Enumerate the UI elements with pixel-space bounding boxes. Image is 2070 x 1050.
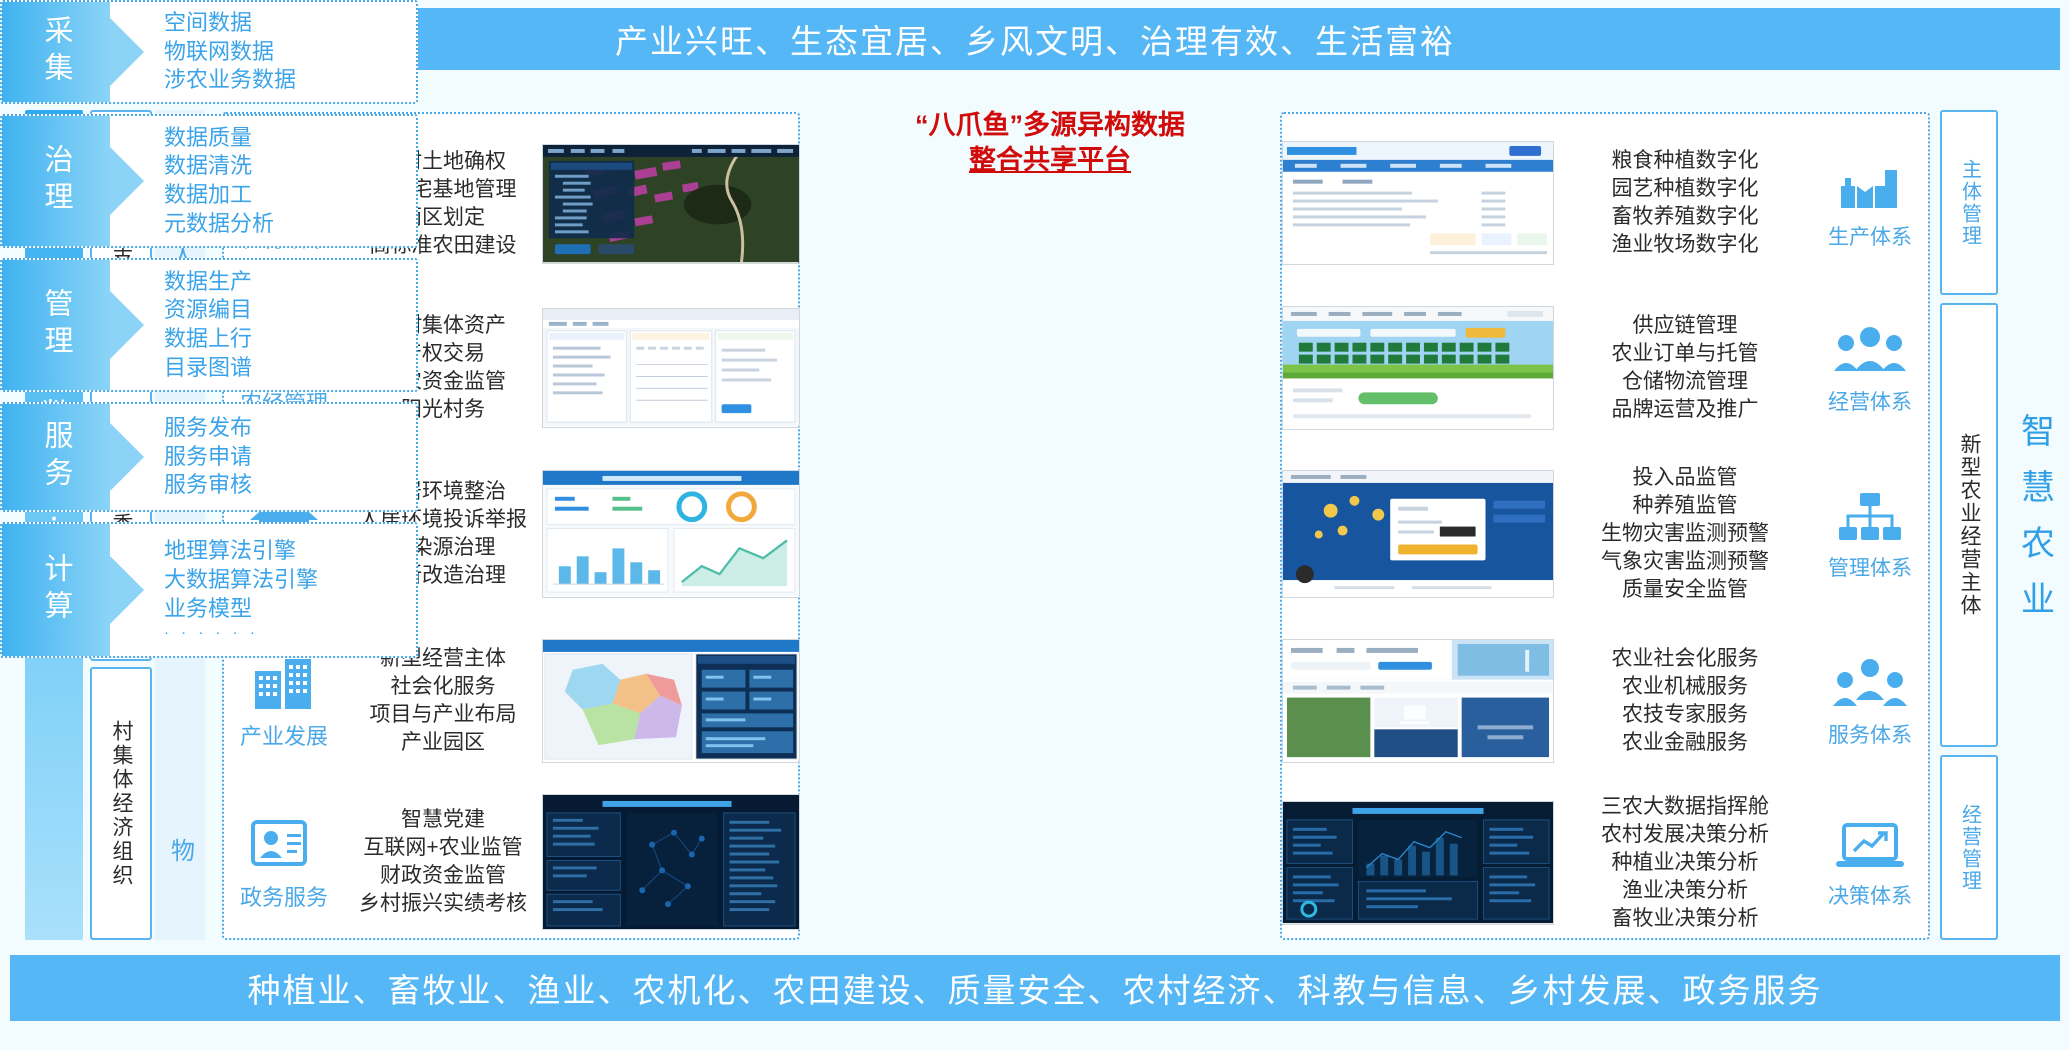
stage-arrow-compute: 计算 — [2, 524, 110, 656]
stage-label: 服务 — [35, 420, 77, 494]
id-card-icon — [247, 812, 321, 874]
laptop-chart-icon-wrap: 决策体系 — [1808, 817, 1932, 910]
right-row-desc: 农业社会化服务农业机械服务农技专家服务农业金融服务 — [1562, 645, 1808, 757]
factory-icon-wrap: 生产体系 — [1808, 156, 1932, 251]
stage-item[interactable]: 元数据分析 — [164, 210, 416, 239]
left-row-title: 政务服务 — [240, 880, 328, 912]
left-row-screenshot — [542, 470, 802, 597]
left-row-screenshot — [542, 794, 802, 931]
service-people-icon-wrap: 服务体系 — [1808, 654, 1932, 749]
right-label-operation-management[interactable]: 经营管理 — [1940, 755, 1998, 940]
stage-item[interactable]: 数据质量 — [164, 124, 416, 153]
org-box-collective-economy[interactable]: 村集体经济组织 — [90, 667, 152, 940]
screenshot-service-portal — [1282, 639, 1554, 762]
stage-item[interactable]: 数据加工 — [164, 181, 416, 210]
screenshot-asset-dashboard — [542, 308, 800, 427]
center-title-line2: 整合共享平台 — [840, 143, 1260, 178]
right-row-title: 经营体系 — [1828, 386, 1912, 416]
stage-label: 管理 — [35, 288, 77, 362]
left-row-government-service[interactable]: 政务服务 智慧党建互联网+农业监管财政资金监管乡村振兴实绩考核 — [224, 786, 802, 938]
resource-label-assets: 物 — [163, 838, 198, 862]
stage-items-service: 服务发布 服务申请 服务审核 — [110, 404, 416, 510]
stage-management[interactable]: 管理 数据生产 资源编目 数据上行 目录图谱 — [0, 258, 418, 392]
stage-arrow-collect: 采集 — [2, 2, 110, 102]
org-label: 村集体经济组织 — [110, 720, 132, 888]
right-row-desc: 供应链管理农业订单与托管仓储物流管理品牌运营及推广 — [1562, 312, 1808, 424]
stage-collect[interactable]: 采集 空间数据 物联网数据 涉农业务数据 — [0, 0, 418, 104]
stage-governance[interactable]: 治理 数据质量 数据清洗 数据加工 元数据分析 — [0, 114, 418, 248]
stage-item[interactable]: 涉农业务数据 — [164, 66, 416, 95]
screenshot-land-map — [542, 144, 800, 263]
stage-item[interactable]: 物联网数据 — [164, 38, 416, 67]
service-people-icon — [1831, 654, 1909, 714]
right-row-desc: 粮食种植数字化园艺种植数字化畜牧养殖数字化渔业牧场数字化 — [1562, 147, 1808, 259]
people-group-icon — [1831, 321, 1909, 381]
stage-item-ellipsis: · · · · · · — [164, 623, 416, 643]
screenshot-decision-bigscreen — [1282, 801, 1554, 924]
center-platform-title: “八爪鱼”多源异构数据 整合共享平台 — [840, 108, 1260, 178]
id-card-icon-wrap: 政务服务 — [224, 812, 344, 912]
buildings-icon-wrap: 产业发展 — [224, 651, 344, 751]
stage-items-management: 数据生产 资源编目 数据上行 目录图谱 — [110, 260, 416, 390]
laptop-chart-icon — [1832, 817, 1908, 875]
footer-banner: 种植业、畜牧业、渔业、农机化、农田建设、质量安全、农村经济、科教与信息、乡村发展… — [10, 955, 2060, 1021]
left-row-screenshot — [542, 639, 802, 762]
stage-item[interactable]: 数据清洗 — [164, 152, 416, 181]
screenshot-industry-map — [542, 639, 800, 762]
right-row-screenshot — [1282, 470, 1562, 597]
stage-label: 采集 — [35, 15, 77, 89]
right-row-operation-system[interactable]: 供应链管理农业订单与托管仓储物流管理品牌运营及推广 经营体系 — [1282, 290, 1932, 446]
right-edge-smart-agriculture: 智慧农业 — [2008, 110, 2062, 940]
left-row-desc: 新型经营主体社会化服务项目与产业布局产业园区 — [344, 645, 542, 757]
diagram-canvas: 产业兴旺、生态宜居、乡风文明、治理有效、生活富裕 数字·乡村 村党支部 村委会 … — [0, 0, 2070, 1050]
right-label-subject-management[interactable]: 主体管理 — [1940, 110, 1998, 295]
stage-item[interactable]: 业务模型 — [164, 595, 416, 624]
right-label-text: 新型农业经营主体 — [1954, 433, 1984, 617]
stage-compute[interactable]: 计算 地理算法引擎 大数据算法引擎 业务模型 · · · · · · — [0, 522, 418, 658]
stage-service[interactable]: 服务 服务发布 服务申请 服务审核 — [0, 402, 418, 512]
footer-title: 种植业、畜牧业、渔业、农机化、农田建设、质量安全、农村经济、科教与信息、乡村发展… — [248, 964, 1823, 1012]
screenshot-party-bigscreen — [542, 794, 800, 931]
left-row-screenshot — [542, 308, 802, 427]
stage-item[interactable]: 空间数据 — [164, 9, 416, 38]
right-edge-label: 智慧农业 — [2011, 413, 2060, 637]
right-label-new-agri-subject[interactable]: 新型农业经营主体 — [1940, 303, 1998, 747]
stage-items-compute: 地理算法引擎 大数据算法引擎 业务模型 · · · · · · — [110, 524, 416, 656]
right-row-screenshot — [1282, 801, 1562, 924]
stage-arrow-management: 管理 — [2, 260, 110, 390]
stage-item[interactable]: 大数据算法引擎 — [164, 566, 416, 595]
right-row-service-system[interactable]: 农业社会化服务农业机械服务农技专家服务农业金融服务 服务体系 — [1282, 622, 1932, 780]
stage-item[interactable]: 数据生产 — [164, 268, 416, 297]
left-row-title: 产业发展 — [240, 719, 328, 751]
header-title: 产业兴旺、生态宜居、乡风文明、治理有效、生活富裕 — [615, 15, 1455, 63]
right-row-title: 决策体系 — [1828, 880, 1912, 910]
screenshot-governance-bi — [542, 470, 800, 597]
stage-items-collect: 空间数据 物联网数据 涉农业务数据 — [110, 2, 416, 102]
right-label-text: 主体管理 — [1959, 159, 1980, 247]
right-row-screenshot — [1282, 306, 1562, 429]
stage-item[interactable]: 地理算法引擎 — [164, 537, 416, 566]
factory-icon — [1833, 156, 1907, 216]
right-row-decision-system[interactable]: 三农大数据指挥舱农村发展决策分析种植业决策分析渔业决策分析畜牧业决策分析 决策体… — [1282, 788, 1932, 938]
screenshot-planting-portal — [1282, 141, 1554, 264]
stage-label: 治理 — [35, 144, 77, 218]
stage-items-governance: 数据质量 数据清洗 数据加工 元数据分析 — [110, 116, 416, 246]
right-row-title: 生产体系 — [1828, 221, 1912, 251]
stage-arrow-governance: 治理 — [2, 116, 110, 246]
stage-item[interactable]: 资源编目 — [164, 296, 416, 325]
stage-item[interactable]: 服务审核 — [164, 471, 416, 500]
right-row-desc: 三农大数据指挥舱农村发展决策分析种植业决策分析渔业决策分析畜牧业决策分析 — [1562, 793, 1808, 933]
screenshot-safety-platform — [1282, 470, 1554, 597]
right-label-text: 经营管理 — [1959, 804, 1980, 892]
left-row-desc: 智慧党建互联网+农业监管财政资金监管乡村振兴实绩考核 — [344, 806, 542, 918]
stage-label: 计算 — [35, 553, 77, 627]
right-row-management-system[interactable]: 投入品监管种养殖监管生物灾害监测预警气象灾害监测预警质量安全监管 管理体系 — [1282, 454, 1932, 614]
right-row-title: 管理体系 — [1828, 552, 1912, 582]
stage-item[interactable]: 服务发布 — [164, 414, 416, 443]
stage-item[interactable]: 数据上行 — [164, 325, 416, 354]
stage-item[interactable]: 服务申请 — [164, 443, 416, 472]
stage-item[interactable]: 目录图谱 — [164, 354, 416, 383]
right-row-production-system[interactable]: 粮食种植数字化园艺种植数字化畜牧养殖数字化渔业牧场数字化 生产体系 — [1282, 124, 1932, 282]
right-row-screenshot — [1282, 141, 1562, 264]
right-row-screenshot — [1282, 639, 1562, 762]
org-chart-icon-wrap: 管理体系 — [1808, 487, 1932, 582]
buildings-icon — [247, 651, 321, 713]
org-chart-icon — [1833, 487, 1907, 547]
right-row-desc: 投入品监管种养殖监管生物灾害监测预警气象灾害监测预警质量安全监管 — [1562, 464, 1808, 604]
right-row-title: 服务体系 — [1828, 719, 1912, 749]
right-content-panel: 粮食种植数字化园艺种植数字化畜牧养殖数字化渔业牧场数字化 生产体系 — [1280, 112, 1930, 940]
center-title-line1: “八爪鱼”多源异构数据 — [840, 108, 1260, 143]
left-row-screenshot — [542, 144, 802, 263]
stage-arrow-service: 服务 — [2, 404, 110, 510]
people-group-icon-wrap: 经营体系 — [1808, 321, 1932, 416]
screenshot-supplychain-portal — [1282, 306, 1554, 429]
